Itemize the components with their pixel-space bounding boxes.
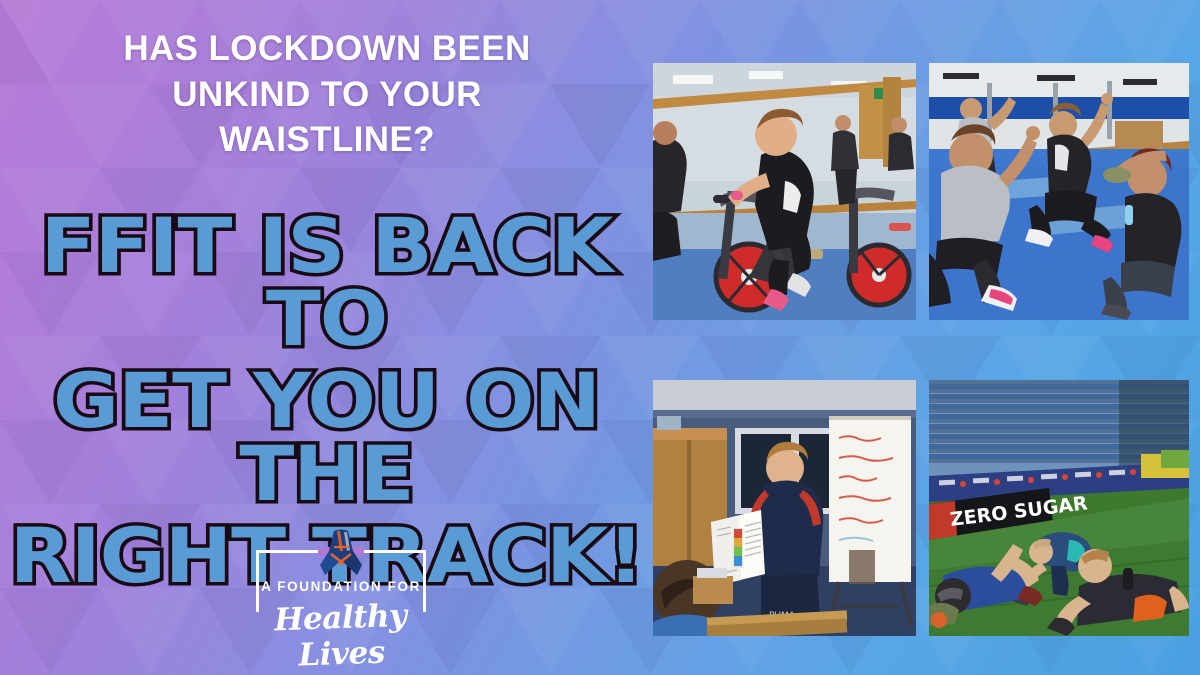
sub-headline-line-3: WAISTLINE? — [22, 117, 632, 163]
logo-foundation-text: A FOUNDATION FOR — [246, 579, 436, 594]
sub-headline-line-1: HAS LOCKDOWN BEEN — [22, 26, 632, 72]
photo-coach-presentation: PUMA — [653, 380, 916, 636]
main-headline-line-1: FFIT IS BACK TO — [0, 210, 658, 356]
logo-healthy-lives-text: Healthy Lives — [245, 597, 437, 675]
logo: A FOUNDATION FOR Healthy Lives — [246, 527, 436, 647]
photo-grid: PUMA — [653, 63, 1189, 636]
ribbon-icon — [316, 529, 366, 577]
sub-headline: HAS LOCKDOWN BEEN UNKIND TO YOUR WAISTLI… — [22, 26, 632, 163]
photo-pitch-training: ZERO SUGAR — [929, 380, 1189, 636]
promotional-poster: HAS LOCKDOWN BEEN UNKIND TO YOUR WAISTLI… — [0, 0, 1200, 675]
main-headline-line-2: GET YOU ON THE — [0, 365, 658, 511]
photo-spin-class — [653, 63, 916, 320]
sub-headline-line-2: UNKIND TO YOUR — [22, 72, 632, 118]
photo-stretch-class — [929, 63, 1189, 320]
